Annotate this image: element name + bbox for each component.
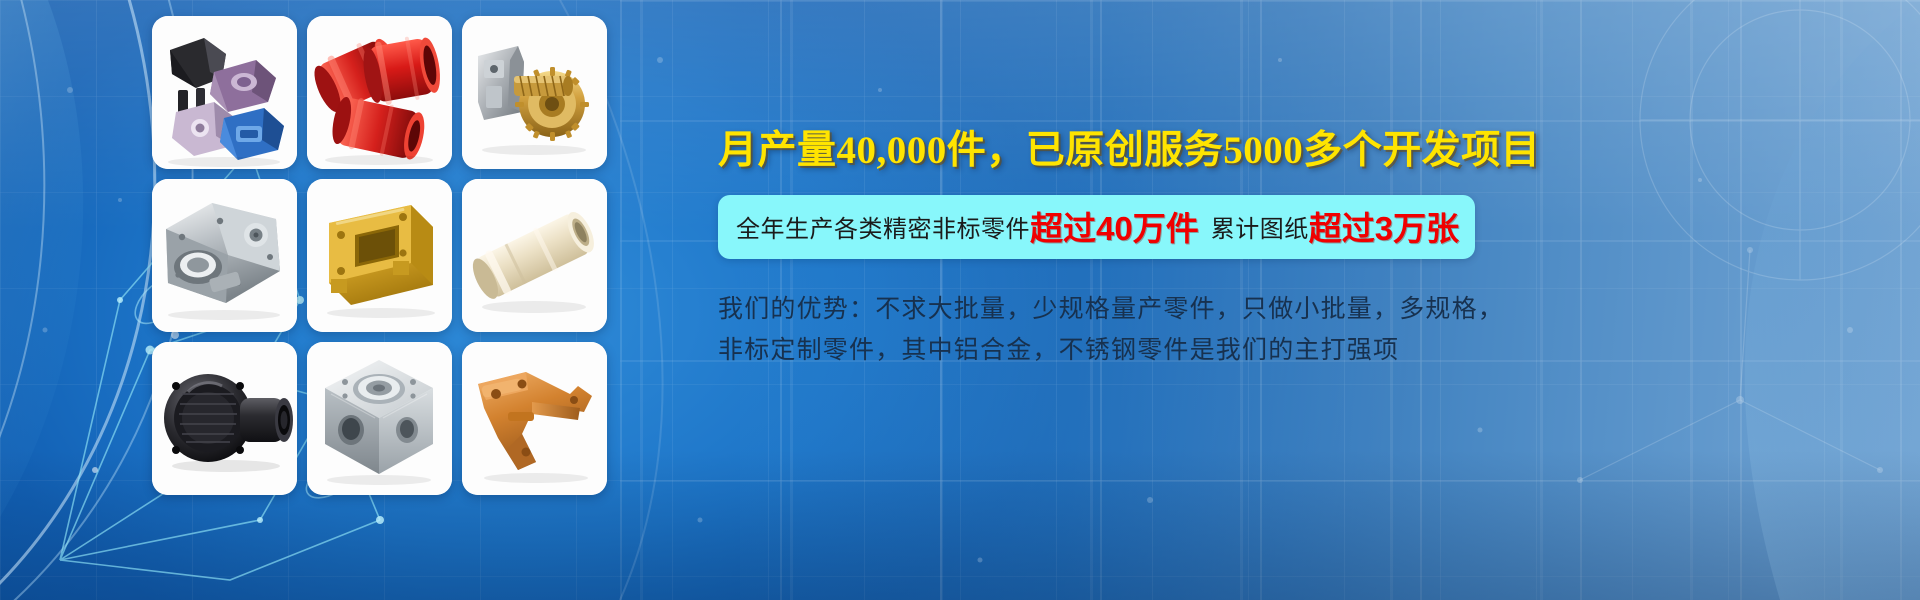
band-segment2-emphasis: 超过3万张 (1309, 202, 1459, 250)
body-copy-line-1: 我们的优势：不求大批量，少规格量产零件，只做小批量，多规格， (718, 289, 1418, 330)
product-photo (152, 179, 297, 332)
product-card-black-purple-blue-anodized-brackets[interactable] (152, 16, 297, 169)
product-photo (462, 179, 607, 332)
product-card-white-peek-cylindrical-sleeve[interactable] (462, 179, 607, 332)
product-card-copper-anodized-support-arm[interactable] (462, 342, 607, 495)
product-card-gold-anodized-square-frame-plate[interactable] (307, 179, 452, 332)
product-photo (152, 342, 297, 495)
product-photo (307, 16, 452, 169)
product-card-black-knurled-motor-housing[interactable] (152, 342, 297, 495)
headline-text: 月产量40,000件，已原创服务5000多个开发项目 (718, 128, 1898, 173)
body-copy-line-2: 非标定制零件，其中铝合金，不锈钢零件是我们的主打强项 (718, 330, 1418, 371)
promo-banner: 月产量40,000件，已原创服务5000多个开发项目 全年生产各类精密非标零件 … (0, 0, 1920, 600)
band-segment1-emphasis: 超过40万件 (1030, 202, 1199, 250)
product-card-brass-worm-gear-shaft-assembly[interactable] (462, 16, 607, 169)
product-photo (462, 342, 607, 495)
body-copy: 我们的优势：不求大批量，少规格量产零件，只做小批量，多规格， 非标定制零件，其中… (718, 289, 1418, 370)
product-image-gallery (152, 16, 607, 495)
marketing-copy-block: 月产量40,000件，已原创服务5000多个开发项目 全年生产各类精密非标零件 … (718, 128, 1898, 370)
band-segment1-label: 全年生产各类精密非标零件 (736, 209, 1030, 244)
band-segment2-label: 累计图纸 (1211, 209, 1309, 244)
product-card-machined-aluminum-cube-block[interactable] (307, 342, 452, 495)
product-photo (462, 16, 607, 169)
product-photo (307, 342, 452, 495)
product-card-aluminum-gearbox-housing[interactable] (152, 179, 297, 332)
highlight-band: 全年生产各类精密非标零件 超过40万件 累计图纸 超过3万张 (718, 195, 1475, 259)
product-photo (307, 179, 452, 332)
product-card-red-anodized-cylinder-housings[interactable] (307, 16, 452, 169)
product-photo (152, 16, 297, 169)
